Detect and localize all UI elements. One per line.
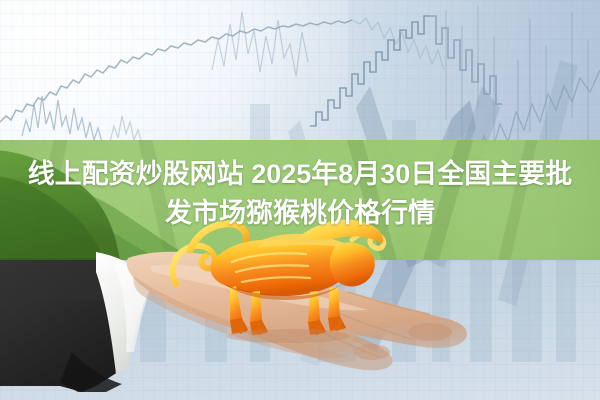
banner-image: 线上配资炒股网站 2025年8月30日全国主要批 发市场猕猴桃价格行情 — [0, 0, 600, 400]
green-translucent-band — [0, 140, 600, 260]
